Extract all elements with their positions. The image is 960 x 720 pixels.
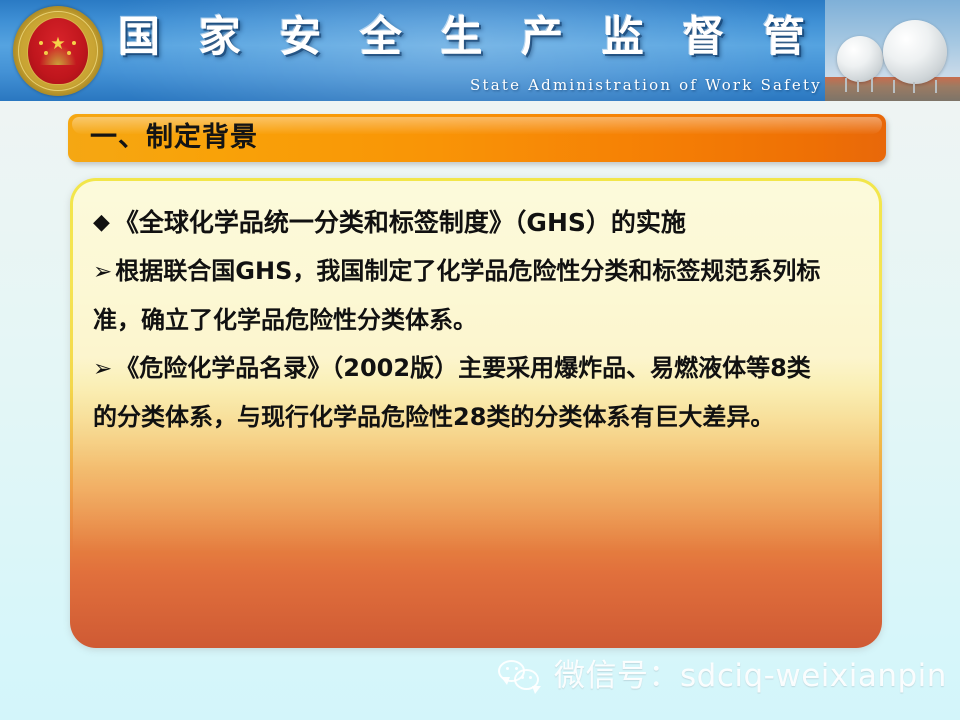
section-title-bar: 一、制定背景 [68,114,886,162]
section-title-text: 一、制定背景 [90,123,258,153]
national-emblem-icon: ★ [13,6,103,96]
arrow-bullet-icon: ➢ [93,259,112,285]
bullet-line-continuation: 准，确立了化学品危险性分类体系。 [87,296,865,344]
tank-leg [857,80,859,92]
wechat-dot [515,667,518,670]
bullet-line: ➢《危险化学品名录》（2002版）主要采用爆炸品、易燃液体等8类 [87,344,865,393]
content-panel: ◆《全球化学品统一分类和标签制度》（GHS）的实施 ➢根据联合国GHS，我国制定… [70,178,882,648]
content-body: ◆《全球化学品统一分类和标签制度》（GHS）的实施 ➢根据联合国GHS，我国制定… [87,199,865,441]
wechat-dot [529,676,532,679]
agency-name-cn: 国 家 安 全 生 产 监 督 管 理 总 局 [118,13,818,61]
wechat-dot [521,676,524,679]
wechat-dot [506,667,509,670]
bullet-line: ◆《全球化学品统一分类和标签制度》（GHS）的实施 [87,199,865,247]
wechat-watermark: 微信号：sdciq-weixianpin [498,652,947,700]
tank-leg [871,78,873,92]
sphere-tank [837,36,883,82]
slide-canvas: ★ 国 家 安 全 生 产 监 督 管 理 总 局 State Administ… [0,0,960,720]
diamond-bullet-icon: ◆ [93,210,110,235]
wechat-bubble-tail [532,686,541,694]
bullet-line: ➢根据联合国GHS，我国制定了化学品危险性分类和标签规范系列标 [87,247,865,296]
wechat-bubble-tail [501,677,510,685]
tank-leg [893,80,895,93]
wechat-id-text: 微信号：sdciq-weixianpin [554,659,947,693]
emblem-inner-shield: ★ [27,17,89,85]
wechat-icon [498,659,544,693]
bullet-line-text: 《全球化学品统一分类和标签制度》（GHS）的实施 [114,208,686,237]
bullet-line-text: 的分类体系，与现行化学品危险性28类的分类体系有巨大差异。 [93,403,774,431]
agency-name-en: State Administration of Work Safety [470,76,822,94]
bullet-line-text: 准，确立了化学品危险性分类体系。 [93,306,477,334]
bullet-line-text: 根据联合国GHS，我国制定了化学品危险性分类和标签规范系列标 [115,257,820,285]
tank-leg [845,78,847,92]
arrow-bullet-icon: ➢ [93,356,112,382]
emblem-wheat-sheaf [40,45,76,65]
storage-tanks-photo [825,0,960,101]
tank-leg [935,80,937,93]
bullet-line-text: 《危险化学品名录》（2002版）主要采用爆炸品、易燃液体等8类 [115,354,811,382]
sphere-tank [883,20,947,84]
header-banner: ★ 国 家 安 全 生 产 监 督 管 理 总 局 State Administ… [0,0,960,101]
bullet-line-continuation: 的分类体系，与现行化学品危险性28类的分类体系有巨大差异。 [87,393,865,441]
tank-leg [913,82,915,93]
